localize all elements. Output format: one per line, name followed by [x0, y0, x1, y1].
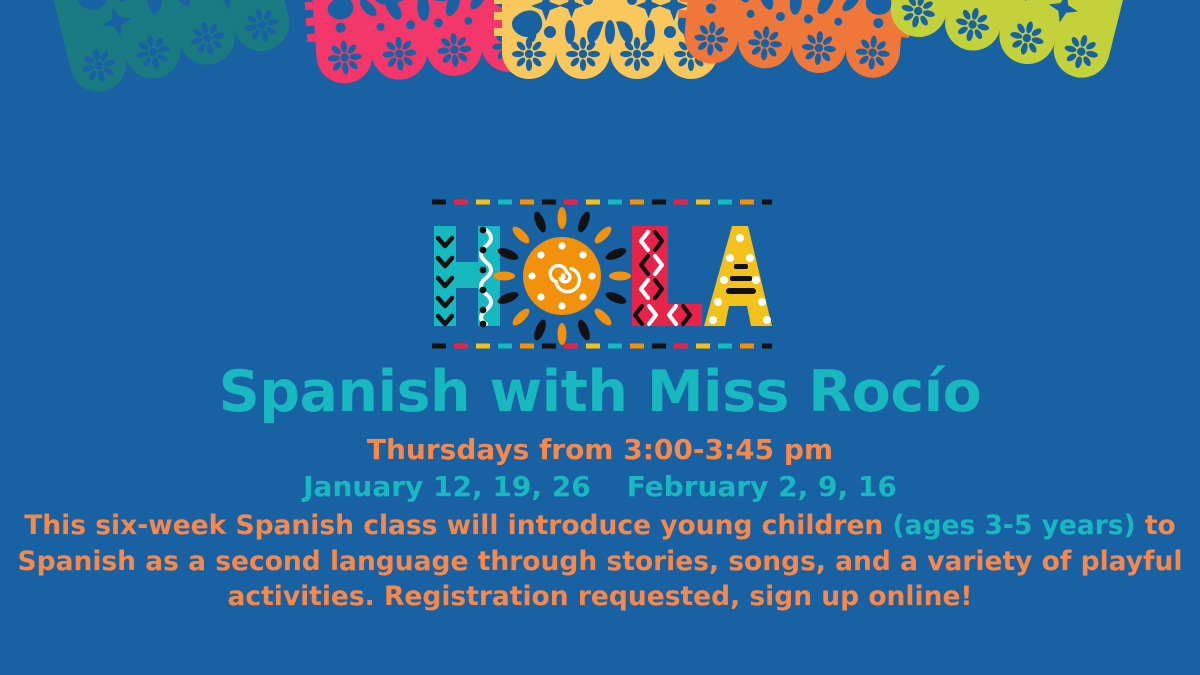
schedule-dates-february: February 2, 9, 16	[627, 470, 897, 503]
hola-letter-l	[632, 226, 702, 326]
hola-letter-a	[704, 226, 772, 326]
class-description: This six-week Spanish class will introdu…	[0, 508, 1200, 614]
papel-picado-banner	[0, 0, 1200, 185]
flyer-text-block: Spanish with Miss Rocío Thursdays from 3…	[0, 362, 1200, 614]
hola-letter-o-sun	[493, 207, 631, 345]
schedule-dates-january: January 12, 19, 26	[303, 470, 591, 503]
papel-picado-flag-chartreuse	[885, 0, 1144, 84]
papel-picado-flag-teal	[37, 0, 296, 98]
page-title: Spanish with Miss Rocío	[0, 362, 1200, 424]
hola-letter-h	[434, 226, 500, 327]
schedule-dates: January 12, 19, 26February 2, 9, 16	[0, 469, 1200, 506]
schedule-time: Thursdays from 3:00-3:45 pm	[0, 432, 1200, 469]
description-ages-highlight: (ages 3-5 years)	[893, 510, 1136, 541]
hola-logo	[0, 196, 1200, 356]
description-part-one: This six-week Spanish class will introdu…	[24, 510, 892, 541]
